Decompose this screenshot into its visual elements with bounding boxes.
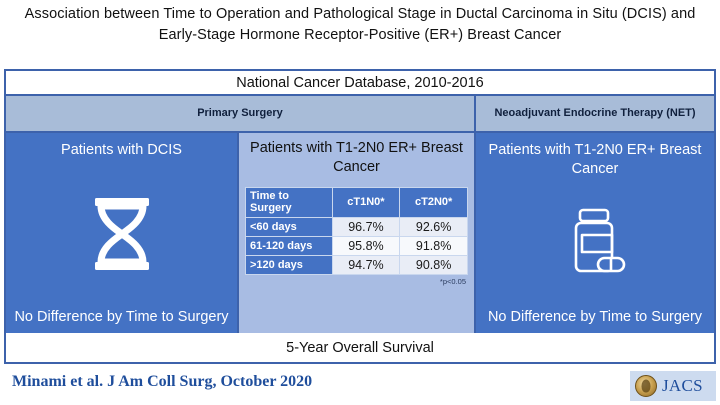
table-col-ct2n0: cT2N0* bbox=[400, 187, 468, 217]
pill-bottle-icon bbox=[563, 208, 627, 278]
table-row: 61-120 days 95.8% 91.8% bbox=[246, 236, 468, 255]
cell-ct2n0-under-60-days: 92.6% bbox=[400, 217, 468, 236]
table-footnote: *p<0.05 bbox=[245, 277, 468, 286]
row-label-over-120-days: >120 days bbox=[246, 255, 333, 274]
panel-net-heading: Patients with T1-2N0 ER+ Breast Cancer bbox=[482, 141, 708, 179]
cell-ct1n0-61-120-days: 95.8% bbox=[332, 236, 400, 255]
table-row: <60 days 96.7% 92.6% bbox=[246, 217, 468, 236]
jacs-logo: JACS bbox=[630, 371, 716, 401]
table-header-row: Time to Surgery cT1N0* cT2N0* bbox=[246, 187, 468, 217]
database-label: National Cancer Database, 2010-2016 bbox=[236, 75, 483, 91]
cell-ct1n0-over-120-days: 94.7% bbox=[332, 255, 400, 274]
cell-ct2n0-over-120-days: 90.8% bbox=[400, 255, 468, 274]
table-col-time-to-surgery: Time to Surgery bbox=[246, 187, 333, 217]
row-label-under-60-days: <60 days bbox=[246, 217, 333, 236]
capsule-shape bbox=[598, 258, 624, 271]
citation-text: Minami et al. J Am Coll Surg, October 20… bbox=[12, 373, 312, 391]
table-row: >120 days 94.7% 90.8% bbox=[246, 255, 468, 274]
infographic-frame: National Cancer Database, 2010-2016 Prim… bbox=[4, 69, 716, 364]
cell-ct1n0-under-60-days: 96.7% bbox=[332, 217, 400, 236]
panel-net-conclusion: No Difference by Time to Surgery bbox=[488, 308, 702, 327]
pill-bottle-icon-wrap bbox=[482, 179, 708, 308]
survival-table-wrap: Time to Surgery cT1N0* cT2N0* <60 days 9… bbox=[245, 187, 468, 286]
panel-er-positive-table: Patients with T1-2N0 ER+ Breast Cancer T… bbox=[237, 133, 476, 333]
arm-header-neoadjuvant-endocrine-therapy: Neoadjuvant Endocrine Therapy (NET) bbox=[476, 96, 714, 131]
jacs-seal-icon bbox=[635, 375, 657, 397]
cell-ct2n0-61-120-days: 91.8% bbox=[400, 236, 468, 255]
panel-dcis-conclusion: No Difference by Time to Surgery bbox=[14, 308, 228, 327]
panel-dcis: Patients with DCIS No Difference by Time… bbox=[6, 133, 237, 333]
panel-net: Patients with T1-2N0 ER+ Breast Cancer N… bbox=[476, 133, 714, 333]
panel-dcis-heading: Patients with DCIS bbox=[61, 141, 182, 160]
table-col-ct1n0: cT1N0* bbox=[332, 187, 400, 217]
page-title: Association between Time to Operation an… bbox=[8, 4, 712, 46]
survival-table: Time to Surgery cT1N0* cT2N0* <60 days 9… bbox=[245, 187, 468, 275]
hourglass-icon-wrap bbox=[12, 160, 231, 308]
arm-header-primary-surgery: Primary Surgery bbox=[6, 96, 476, 131]
outcome-label: 5-Year Overall Survival bbox=[286, 340, 434, 356]
outcome-band: 5-Year Overall Survival bbox=[6, 333, 714, 362]
hourglass-icon bbox=[91, 198, 153, 270]
panel-middle-heading: Patients with T1-2N0 ER+ Breast Cancer bbox=[245, 139, 468, 177]
row-label-61-120-days: 61-120 days bbox=[246, 236, 333, 255]
panels-row: Patients with DCIS No Difference by Time… bbox=[6, 133, 714, 335]
database-band: National Cancer Database, 2010-2016 bbox=[6, 71, 714, 96]
jacs-logo-text: JACS bbox=[662, 376, 703, 396]
treatment-arm-band: Primary Surgery Neoadjuvant Endocrine Th… bbox=[6, 96, 714, 133]
